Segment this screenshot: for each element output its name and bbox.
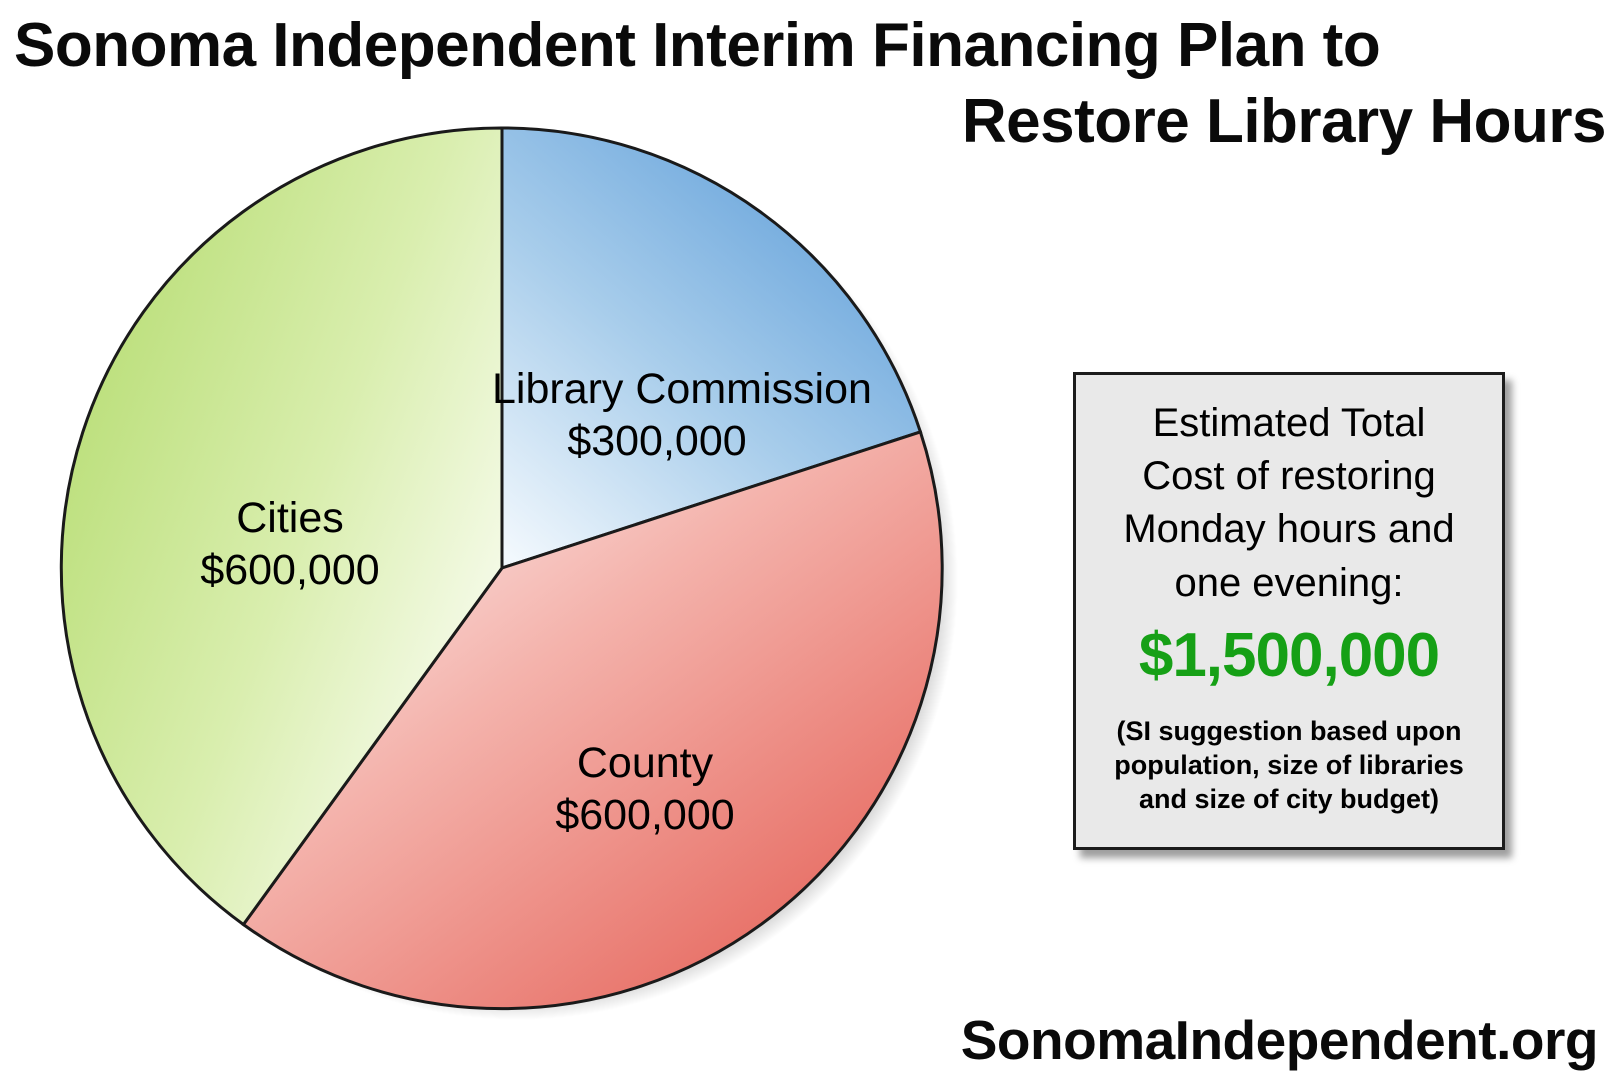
pie-chart-svg bbox=[40, 100, 1000, 1060]
estimated-total-amount: $1,500,000 bbox=[1090, 622, 1488, 690]
pie-chart: Cities $600,000 Library Commission $300,… bbox=[40, 100, 1000, 1060]
info-box-note-line-1: (SI suggestion based upon bbox=[1090, 714, 1488, 748]
site-url[interactable]: SonomaIndependent.org bbox=[961, 1008, 1598, 1072]
info-box-heading-line-4: one evening: bbox=[1090, 557, 1488, 610]
info-box-note-line-2: population, size of libraries bbox=[1090, 748, 1488, 782]
info-box-heading-line-2: Cost of restoring bbox=[1090, 450, 1488, 503]
info-box-note-line-3: and size of city budget) bbox=[1090, 782, 1488, 816]
info-box-heading: Estimated Total Cost of restoring Monday… bbox=[1090, 397, 1488, 610]
info-box-heading-line-3: Monday hours and bbox=[1090, 503, 1488, 556]
info-box-heading-line-1: Estimated Total bbox=[1090, 397, 1488, 450]
estimated-total-cost-box: Estimated Total Cost of restoring Monday… bbox=[1073, 372, 1505, 850]
info-box-note: (SI suggestion based upon population, si… bbox=[1090, 714, 1488, 816]
page-title-line-1: Sonoma Independent Interim Financing Pla… bbox=[14, 8, 1606, 84]
